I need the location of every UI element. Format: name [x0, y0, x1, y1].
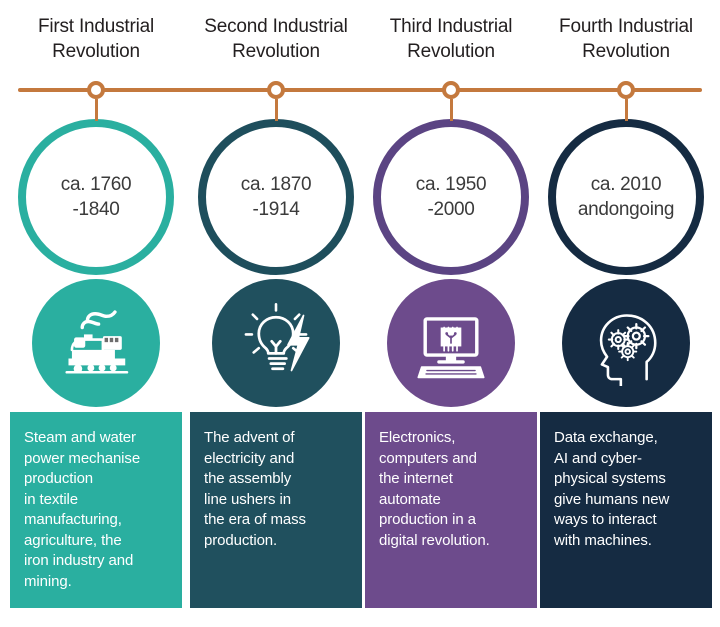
date-ring: ca. 1870 -1914 [198, 119, 354, 275]
column-title: Second Industrial Revolution [182, 14, 370, 64]
timeline-stem-1 [95, 99, 98, 121]
timeline-node-3[interactable] [442, 81, 460, 99]
icon-disc [562, 279, 690, 407]
head-gears-icon [583, 300, 669, 386]
date-ring: ca. 2010 andongoing [548, 119, 704, 275]
description-card: The advent of electricity and the assemb… [190, 412, 362, 608]
timeline-stem-4 [625, 99, 628, 121]
timeline-stem-3 [450, 99, 453, 121]
steam-locomotive-icon [53, 300, 139, 386]
icon-disc [387, 279, 515, 407]
timeline-node-2[interactable] [267, 81, 285, 99]
column-title: First Industrial Revolution [2, 14, 190, 64]
date-label: ca. 1870 -1914 [241, 172, 312, 222]
description-text: Data exchange, AI and cyber- physical sy… [554, 428, 700, 551]
icon-disc [212, 279, 340, 407]
description-card: Steam and water power mechanise producti… [10, 412, 182, 608]
description-text: The advent of electricity and the assemb… [204, 428, 350, 551]
timeline-stem-2 [275, 99, 278, 121]
date-ring: ca. 1760 -1840 [18, 119, 174, 275]
industrial-revolutions-infographic: First Industrial Revolution ca. 1760 -18… [0, 0, 720, 627]
column-title: Fourth Industrial Revolution [532, 14, 720, 64]
timeline-node-1[interactable] [87, 81, 105, 99]
description-card: Electronics, computers and the internet … [365, 412, 537, 608]
desktop-computer-icon [408, 300, 494, 386]
column-title: Third Industrial Revolution [357, 14, 545, 64]
date-ring: ca. 1950 -2000 [373, 119, 529, 275]
icon-disc [32, 279, 160, 407]
description-card: Data exchange, AI and cyber- physical sy… [540, 412, 712, 608]
lightbulb-lightning-icon [233, 300, 319, 386]
description-text: Electronics, computers and the internet … [379, 428, 525, 551]
description-text: Steam and water power mechanise producti… [24, 428, 170, 592]
date-label: ca. 1760 -1840 [61, 172, 132, 222]
timeline-node-4[interactable] [617, 81, 635, 99]
date-label: ca. 1950 -2000 [416, 172, 487, 222]
date-label: ca. 2010 andongoing [578, 172, 674, 222]
